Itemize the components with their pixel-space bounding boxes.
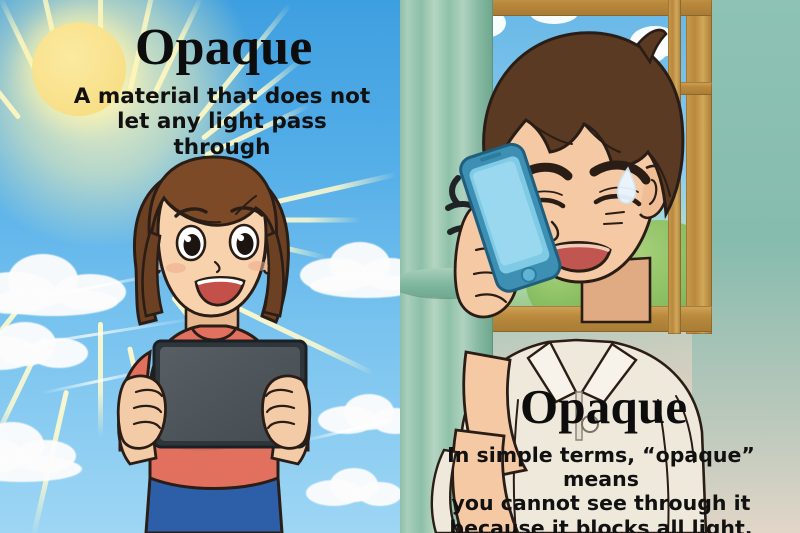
- illustration-canvas: Opaque A material that does not let any …: [0, 0, 800, 533]
- right-panel: Opaque In simple terms, “opaque” means y…: [400, 0, 800, 533]
- right-panel-title: Opaque: [520, 378, 687, 435]
- right-panel-definition: In simple terms, “opaque” means you cann…: [408, 443, 794, 533]
- girl-character: [0, 0, 400, 533]
- left-panel: Opaque A material that does not let any …: [0, 0, 400, 533]
- left-panel-definition: A material that does not let any light p…: [72, 84, 372, 160]
- left-panel-title: Opaque: [135, 18, 313, 77]
